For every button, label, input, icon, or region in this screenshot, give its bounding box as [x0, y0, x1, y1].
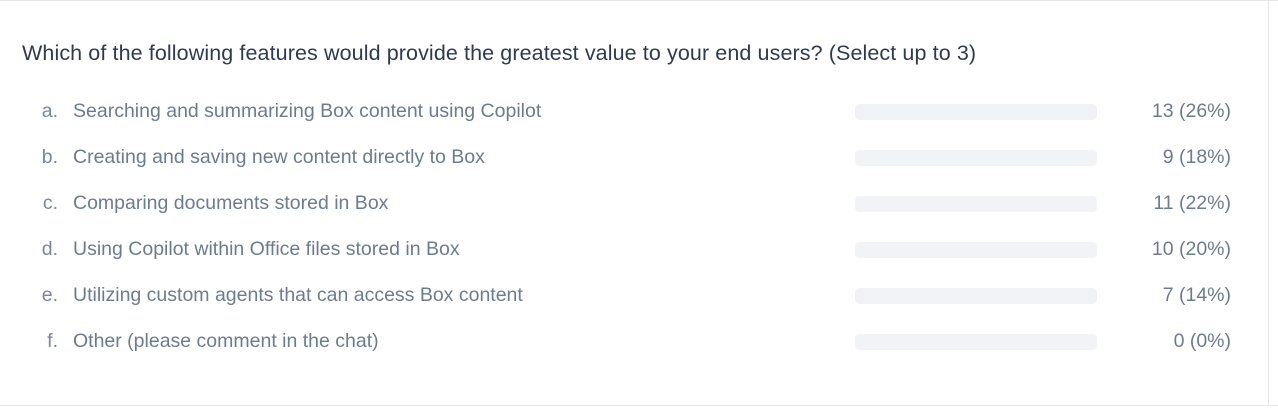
poll-option-row-c[interactable]: c. Comparing documents stored in Box 11 …	[0, 181, 1278, 227]
option-result-e: 7 (14%)	[1163, 282, 1231, 308]
option-bar-track-d	[855, 242, 1097, 258]
option-label-a: Searching and summarizing Box content us…	[73, 98, 541, 124]
option-bar-track-b	[855, 150, 1097, 166]
poll-options-list: a. Searching and summarizing Box content…	[0, 89, 1278, 365]
poll-option-row-e[interactable]: e. Utilizing custom agents that can acce…	[0, 273, 1278, 319]
poll-option-row-a[interactable]: a. Searching and summarizing Box content…	[0, 89, 1278, 135]
option-letter-b: b.	[16, 144, 58, 170]
option-label-e: Utilizing custom agents that can access …	[73, 282, 523, 308]
option-result-d: 10 (20%)	[1152, 236, 1231, 262]
option-bar-track-f	[855, 334, 1097, 350]
option-letter-d: d.	[16, 236, 58, 262]
option-result-c: 11 (22%)	[1153, 190, 1231, 216]
option-letter-f: f.	[16, 328, 58, 354]
option-letter-c: c.	[16, 190, 58, 216]
option-bar-track-a	[855, 104, 1097, 120]
option-bar-track-c	[855, 196, 1097, 212]
poll-option-row-f[interactable]: f. Other (please comment in the chat) 0 …	[0, 319, 1278, 365]
option-result-f: 0 (0%)	[1174, 328, 1231, 354]
poll-question: Which of the following features would pr…	[22, 39, 976, 67]
poll-results-card: Which of the following features would pr…	[0, 0, 1278, 416]
option-bar-track-e	[855, 288, 1097, 304]
option-result-a: 13 (26%)	[1152, 98, 1231, 124]
option-label-d: Using Copilot within Office files stored…	[73, 236, 460, 262]
option-label-c: Comparing documents stored in Box	[73, 190, 388, 216]
option-letter-a: a.	[16, 98, 58, 124]
option-label-b: Creating and saving new content directly…	[73, 144, 485, 170]
poll-option-row-d[interactable]: d. Using Copilot within Office files sto…	[0, 227, 1278, 273]
option-result-b: 9 (18%)	[1163, 144, 1231, 170]
option-label-f: Other (please comment in the chat)	[73, 328, 379, 354]
poll-option-row-b[interactable]: b. Creating and saving new content direc…	[0, 135, 1278, 181]
option-letter-e: e.	[16, 282, 58, 308]
